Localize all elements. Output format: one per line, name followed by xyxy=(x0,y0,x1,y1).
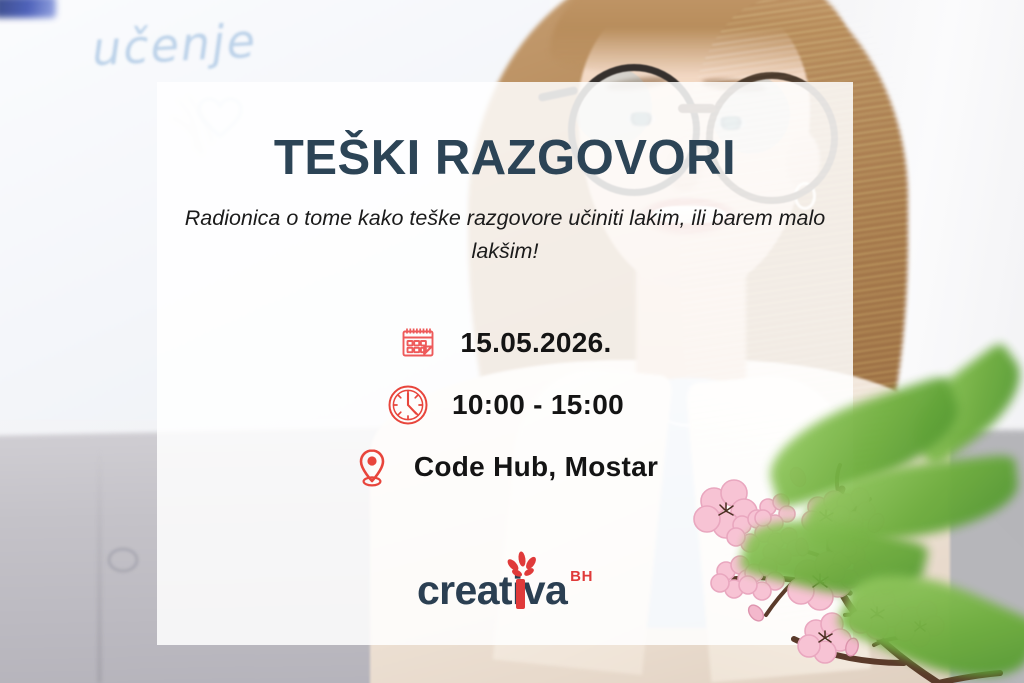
sprout-icon xyxy=(505,550,541,578)
sofa-seam xyxy=(98,448,101,683)
foreground-plant xyxy=(734,393,1024,683)
sofa-button xyxy=(108,548,138,572)
event-location: Code Hub, Mostar xyxy=(414,451,658,483)
subtitle: Radionica o tome kako teške razgovore uč… xyxy=(182,202,828,268)
whiteboard-marker xyxy=(0,0,56,18)
logo-suffix: BH xyxy=(570,568,593,585)
detail-row-date: 15.05.2026. xyxy=(157,312,853,374)
brand-logo: creativa BH xyxy=(157,570,853,611)
page-title: TEŠKI RAZGOVORI xyxy=(157,130,853,186)
calendar-icon xyxy=(398,323,438,363)
clock-icon xyxy=(386,383,430,427)
whiteboard-word: učenje xyxy=(91,14,259,77)
logo-wordmark: creativa xyxy=(417,570,567,611)
event-poster: učenje xyxy=(0,0,1024,683)
event-date: 15.05.2026. xyxy=(460,327,611,359)
map-pin-icon xyxy=(352,445,392,489)
event-time: 10:00 - 15:00 xyxy=(452,389,624,421)
logo-i-stem xyxy=(516,579,525,609)
